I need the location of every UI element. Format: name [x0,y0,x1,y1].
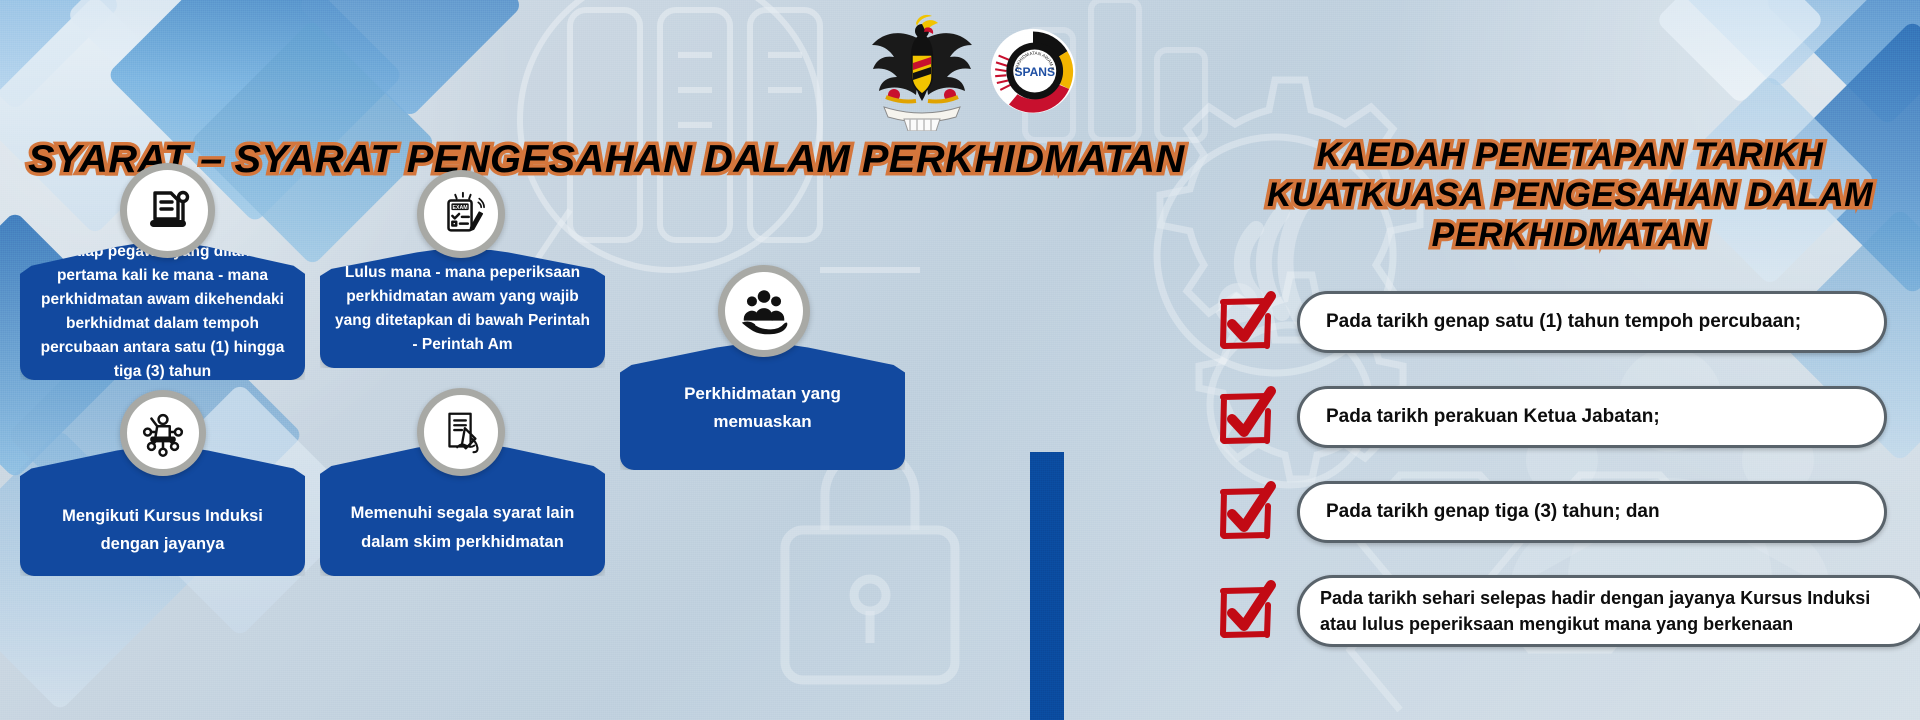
checklist-pill[interactable]: Pada tarikh perakuan Ketua Jabatan; [1297,386,1887,448]
checklist-pill[interactable]: Pada tarikh genap tiga (3) tahun; dan [1297,481,1887,543]
training-course-icon [138,408,188,458]
condition-card-service: Perkhidmatan yang memuaskan [620,345,905,470]
condition-card-text: Memenuhi segala syarat lain dalam skim p… [320,465,605,555]
tech-lineart-hex [1290,420,1710,720]
checklist-row-3[interactable]: Pada tarikh genap tiga (3) tahun; dan [1215,480,1887,544]
icon-bubble-induction [120,390,206,476]
svg-text:EXAM: EXAM [453,205,468,211]
background-diamond [66,0,264,114]
logo-group: SPANS SURUHANJAYA PERKHIDMATAN AWAM NEGE… [845,8,1095,133]
checkbox-checked-icon[interactable] [1215,579,1279,643]
checklist-row-2[interactable]: Pada tarikh perakuan Ketua Jabatan; [1215,385,1887,449]
background-diamond [0,0,121,111]
infographic-canvas: SPANS SURUHANJAYA PERKHIDMATAN AWAM NEGE… [0,0,1920,720]
checklist-pill[interactable]: Pada tarikh genap satu (1) tahun tempoh … [1297,291,1887,353]
appointment-document-icon [142,185,194,237]
condition-card-text: Lulus mana - mana peperiksaan perkhidmat… [320,261,605,357]
checkbox-checked-icon[interactable] [1215,290,1279,354]
checkbox-checked-icon[interactable] [1215,385,1279,449]
icon-bubble-appointment [120,163,215,258]
checklist-row-1[interactable]: Pada tarikh genap satu (1) tahun tempoh … [1215,290,1887,354]
sarawak-coat-of-arms-logo [864,11,980,131]
people-in-hand-icon [737,284,791,338]
background-diamond [1655,0,1825,105]
condition-card-appointment: Setiap pegawai yang dilantik pertama kal… [20,244,305,380]
exam-paper-icon: EXAM [436,189,486,239]
page-title-left: SYARAT – SYARAT PENGESAHAN DALAM PERKHID… [28,138,1185,182]
background-diamond [1661,0,1894,89]
signing-document-icon [436,407,486,457]
checkbox-checked-icon[interactable] [1215,480,1279,544]
icon-bubble-service [718,265,810,357]
checklist-pill[interactable]: Pada tarikh sehari selepas hadir dengan … [1297,575,1920,647]
background-diamond [297,0,523,118]
checklist-text: Pada tarikh sehari selepas hadir dengan … [1320,585,1902,637]
background-blue-strip [1030,452,1064,720]
background-glow-left [0,0,640,480]
checklist-text: Pada tarikh genap tiga (3) tahun; dan [1326,498,1660,526]
icon-bubble-exam: EXAM [417,170,505,258]
condition-card-exam: Lulus mana - mana peperiksaan perkhidmat… [320,250,605,368]
spans-logo: SPANS SURUHANJAYA PERKHIDMATAN AWAM NEGE… [990,28,1076,114]
page-title-right: KAEDAH PENETAPAN TARIKH KUATKUASA PENGES… [1220,135,1920,255]
background-diamond [1764,0,1920,126]
condition-card-text: Perkhidmatan yang memuaskan [620,380,905,434]
condition-card-text: Mengikuti Kursus Induksi dengan jayanya [20,466,305,558]
checklist-text: Pada tarikh perakuan Ketua Jabatan; [1326,403,1660,431]
checklist-row-4[interactable]: Pada tarikh sehari selepas hadir dengan … [1215,575,1920,647]
checklist-text: Pada tarikh genap satu (1) tahun tempoh … [1326,308,1801,336]
icon-bubble-scheme [417,388,505,476]
spans-logo-text: SPANS [1014,65,1055,79]
condition-card-text: Setiap pegawai yang dilantik pertama kal… [20,240,305,384]
